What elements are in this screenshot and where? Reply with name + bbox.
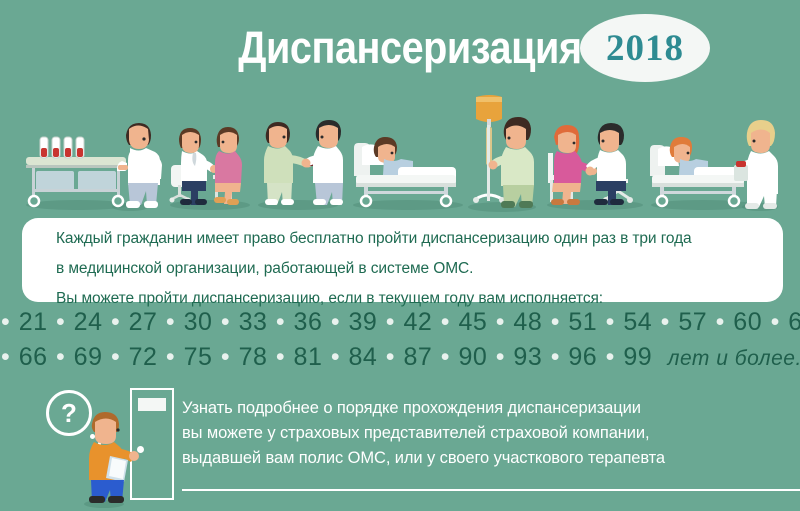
- age-bullet: •: [440, 343, 459, 371]
- doctor-examining-seated-patient-icon: [165, 95, 255, 215]
- info-card-line-2: в медицинской организации, работающей в …: [22, 251, 783, 281]
- age-value: 99: [623, 343, 659, 371]
- age-bullet: •: [0, 343, 19, 371]
- age-bullet: •: [605, 343, 624, 371]
- age-value: 24: [74, 308, 110, 336]
- age-bullet: •: [220, 343, 239, 371]
- age-bullet: •: [660, 308, 679, 336]
- age-bullet: •: [330, 343, 349, 371]
- age-value: 27: [129, 308, 165, 336]
- age-row-second: • 66 • 69 • 72 • 75 • 78 • 81 • 84 • 87 …: [0, 340, 800, 376]
- age-value: 96: [568, 343, 604, 371]
- eligible-ages-list: • 21 • 24 • 27 • 30 • 33 • 36 • 39 • 42 …: [0, 305, 800, 376]
- age-value: 39: [349, 308, 385, 336]
- age-bullet: •: [440, 308, 459, 336]
- person-with-question-at-door-illustration: ?: [28, 380, 178, 511]
- age-bullet: •: [55, 343, 74, 371]
- age-value: 21: [19, 308, 55, 336]
- age-bullet: •: [165, 308, 184, 336]
- age-value: 57: [678, 308, 714, 336]
- age-bullet: •: [770, 308, 789, 336]
- age-bullet: •: [550, 308, 569, 336]
- year-label: 2018: [606, 27, 684, 70]
- age-value: 48: [513, 308, 549, 336]
- age-value: 90: [458, 343, 494, 371]
- age-value: 72: [129, 343, 165, 371]
- age-value: 78: [239, 343, 275, 371]
- year-badge: 2018: [580, 14, 710, 82]
- doctor-consulting-seated-patient-icon: [540, 95, 650, 215]
- age-value: 93: [513, 343, 549, 371]
- footer-divider: [182, 489, 800, 491]
- age-bullet: •: [495, 343, 514, 371]
- age-bullet: •: [0, 308, 19, 336]
- age-value: 69: [74, 343, 110, 371]
- nurse-with-iv-drip-stand-icon: [462, 95, 542, 215]
- age-bullet: •: [605, 308, 624, 336]
- age-value: 84: [349, 343, 385, 371]
- patient-lying-in-hospital-bed-icon: [348, 95, 468, 215]
- question-mark-label: ?: [61, 400, 77, 426]
- age-bullet: •: [55, 308, 74, 336]
- age-bullet: •: [385, 308, 404, 336]
- info-card: Каждый гражданин имеет право бесплатно п…: [22, 218, 783, 302]
- standing-man-icon: [76, 408, 148, 508]
- age-value: 30: [184, 308, 220, 336]
- age-bullet: •: [330, 308, 349, 336]
- info-card-line-1: Каждый гражданин имеет право бесплатно п…: [22, 218, 783, 251]
- age-bullet: •: [385, 343, 404, 371]
- age-value: 51: [568, 308, 604, 336]
- illustration-band: [0, 95, 800, 215]
- age-value: 42: [403, 308, 439, 336]
- footer-note: Узнать подробнее о порядке прохождения д…: [182, 396, 792, 471]
- lab-technician-with-blood-sample-cart-icon: [18, 95, 168, 215]
- age-bullet: •: [220, 308, 239, 336]
- age-value: 45: [458, 308, 494, 336]
- nurse-with-clipboard-beside-patient-bed-icon: [648, 95, 788, 215]
- age-value: 63: [788, 308, 800, 336]
- age-value: 54: [623, 308, 659, 336]
- age-value: 33: [239, 308, 275, 336]
- age-tail-label: лет и более.: [660, 347, 800, 370]
- age-value: 81: [294, 343, 330, 371]
- footer-note-line-2: вы можете у страховых представителей стр…: [182, 421, 792, 446]
- age-value: 60: [733, 308, 769, 336]
- page-title: Диспансеризация –: [238, 25, 614, 70]
- age-value: 36: [294, 308, 330, 336]
- age-bullet: •: [110, 343, 129, 371]
- age-value: 75: [184, 343, 220, 371]
- age-bullet: •: [275, 308, 294, 336]
- age-row-first: • 21 • 24 • 27 • 30 • 33 • 36 • 39 • 42 …: [0, 305, 800, 340]
- footer-note-line-3: выдавшей вам полис ОМС, или у своего уча…: [182, 446, 792, 471]
- age-bullet: •: [495, 308, 514, 336]
- age-bullet: •: [110, 308, 129, 336]
- age-bullet: •: [715, 308, 734, 336]
- age-value: 87: [403, 343, 439, 371]
- age-value: 66: [19, 343, 55, 371]
- footer-note-line-1: Узнать подробнее о порядке прохождения д…: [182, 396, 792, 421]
- doctor-measuring-blood-pressure-icon: [250, 95, 345, 215]
- age-bullet: •: [275, 343, 294, 371]
- age-bullet: •: [165, 343, 184, 371]
- age-bullet: •: [550, 343, 569, 371]
- infographic-poster: Диспансеризация – 2018: [0, 0, 800, 511]
